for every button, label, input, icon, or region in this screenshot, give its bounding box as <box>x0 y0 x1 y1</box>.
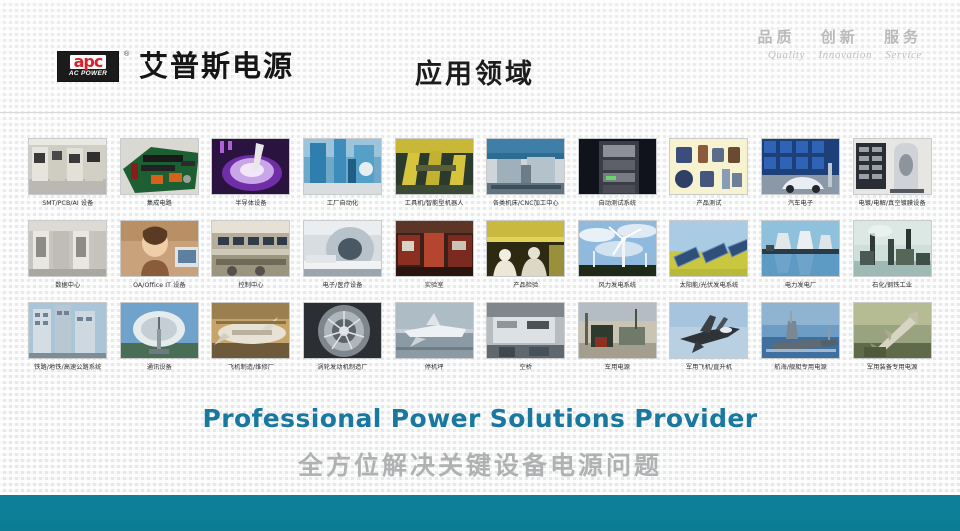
grid-cell[interactable]: 铁路/地铁/高速公路系统 <box>22 302 114 384</box>
grid-cell[interactable]: 汽车电子 <box>755 138 847 220</box>
wind-turbine-thumb[interactable] <box>578 220 657 277</box>
grid-cell-label: 实验室 <box>425 282 444 290</box>
grid-cell-label: 车用电源 <box>605 364 630 372</box>
grid-cell-label: 电子/医疗设备 <box>323 282 363 290</box>
control-room-thumb[interactable] <box>211 220 290 277</box>
slogan-english: Quality Innovation Service <box>757 48 922 63</box>
grid-cell-label: 汽车电子 <box>788 200 813 208</box>
grid-cell-label: 电力发电厂 <box>785 282 816 290</box>
grid-cell-label: 半导体设备 <box>235 200 266 208</box>
grid-cell-label: 集成电路 <box>147 200 172 208</box>
footer-bar <box>0 495 960 531</box>
grid-cell-label: 飞机制造/维修厂 <box>228 364 274 372</box>
grid-cell[interactable]: 军用飞机/直升机 <box>663 302 755 384</box>
logo-tagline: AC POWER <box>69 70 107 78</box>
grid-cell-label: 铁路/地铁/高速公路系统 <box>34 364 101 372</box>
grid-cell[interactable]: 实验室 <box>388 220 480 302</box>
grid-cell[interactable]: 停机坪 <box>388 302 480 384</box>
slogan-cn-innovation: 创新 <box>821 28 859 46</box>
grid-cell-label: 军用飞机/直升机 <box>686 364 732 372</box>
grid-cell-label: 各类机床/CNC加工中心 <box>493 200 559 208</box>
page-title: 应用领域 <box>415 52 535 91</box>
automotive-thumb[interactable] <box>761 138 840 195</box>
industrial-robot-thumb[interactable] <box>395 138 474 195</box>
grid-cell-label: 数据中心 <box>55 282 80 290</box>
grid-cell[interactable]: 控制中心 <box>205 220 297 302</box>
slogan-cn-service: 服务 <box>884 28 922 46</box>
grid-cell[interactable]: 车用电源 <box>572 302 664 384</box>
logo-wordmark: apc <box>70 55 107 69</box>
slogan-en-innovation: Innovation <box>818 49 872 61</box>
header: apc AC POWER ® 艾普斯电源 应用领域 品质 创新 服务 Quali… <box>0 0 960 112</box>
naval-ship-thumb[interactable] <box>761 302 840 359</box>
slogan-cn-quality: 品质 <box>757 28 795 46</box>
grid-cell[interactable]: 各类机床/CNC加工中心 <box>480 138 572 220</box>
grid-cell[interactable]: 风力发电系统 <box>572 220 664 302</box>
jet-bridge-thumb[interactable] <box>486 302 565 359</box>
application-grid: SMT/PCB/AI 设备 集成电路 <box>22 138 938 384</box>
grid-cell[interactable]: 电镀/电解/真空镀膜设备 <box>846 138 938 220</box>
product-test-thumb[interactable] <box>669 138 748 195</box>
solar-panel-thumb[interactable] <box>669 220 748 277</box>
tagline-chinese: 全方位解决关键设备电源问题 <box>0 446 960 482</box>
grid-cell-label: 产品测试 <box>696 200 721 208</box>
grid-cell[interactable]: 通讯设备 <box>114 302 206 384</box>
grid-cell[interactable]: 涡轮发动机制造厂 <box>297 302 389 384</box>
grid-cell[interactable]: 产品测试 <box>663 138 755 220</box>
grid-cell[interactable]: SMT/PCB/AI 设备 <box>22 138 114 220</box>
brand-logo: apc AC POWER ® 艾普斯电源 <box>57 51 294 82</box>
grid-cell-label: 电镀/电解/真空镀膜设备 <box>859 200 926 208</box>
grid-cell-label: 产品检验 <box>513 282 538 290</box>
apc-logo-mark: apc AC POWER ® <box>57 51 119 82</box>
petrochemical-thumb[interactable] <box>853 220 932 277</box>
grid-cell-label: 涡轮发动机制造厂 <box>317 364 367 372</box>
grid-cell-label: 风力发电系统 <box>598 282 636 290</box>
office-it-thumb[interactable] <box>120 220 199 277</box>
brand-name-chinese: 艾普斯电源 <box>139 51 294 82</box>
circuit-board-thumb[interactable] <box>120 138 199 195</box>
grid-cell[interactable]: 石化/钢铁工业 <box>846 220 938 302</box>
grid-cell[interactable]: 电子/医疗设备 <box>297 220 389 302</box>
grid-cell[interactable]: 电力发电厂 <box>755 220 847 302</box>
product-inspection-thumb[interactable] <box>486 220 565 277</box>
apron-thumb[interactable] <box>395 302 474 359</box>
grid-cell[interactable]: 数据中心 <box>22 220 114 302</box>
grid-cell-label: 空桥 <box>519 364 532 372</box>
smt-machines-thumb[interactable] <box>28 138 107 195</box>
grid-cell[interactable]: 自动测试系统 <box>572 138 664 220</box>
cnc-machine-thumb[interactable] <box>486 138 565 195</box>
slogan-en-service: Service <box>885 49 922 61</box>
grid-cell[interactable]: 产品检验 <box>480 220 572 302</box>
grid-cell-label: 停机坪 <box>425 364 444 372</box>
grid-cell[interactable]: 集成电路 <box>114 138 206 220</box>
application-poster: apc AC POWER ® 艾普斯电源 应用领域 品质 创新 服务 Quali… <box>0 0 960 531</box>
turbine-engine-thumb[interactable] <box>303 302 382 359</box>
medical-equipment-thumb[interactable] <box>303 220 382 277</box>
data-center-thumb[interactable] <box>28 220 107 277</box>
rail-highway-thumb[interactable] <box>28 302 107 359</box>
grid-cell[interactable]: 工厂自动化 <box>297 138 389 220</box>
grid-cell-label: 军用装备专用电源 <box>867 364 917 372</box>
factory-automation-thumb[interactable] <box>303 138 382 195</box>
missile-launcher-thumb[interactable] <box>853 302 932 359</box>
grid-cell-label: 航海/舰艇专用电源 <box>774 364 826 372</box>
aircraft-factory-thumb[interactable] <box>211 302 290 359</box>
grid-cell[interactable]: 空桥 <box>480 302 572 384</box>
test-rack-thumb[interactable] <box>578 138 657 195</box>
grid-cell-label: 石化/钢铁工业 <box>872 282 912 290</box>
laboratory-thumb[interactable] <box>395 220 474 277</box>
grid-cell[interactable]: 半导体设备 <box>205 138 297 220</box>
vehicle-power-thumb[interactable] <box>578 302 657 359</box>
plating-equipment-thumb[interactable] <box>853 138 932 195</box>
grid-cell-label: SMT/PCB/AI 设备 <box>42 200 93 208</box>
slogan-en-quality: Quality <box>768 49 805 61</box>
semiconductor-wafer-thumb[interactable] <box>211 138 290 195</box>
grid-cell-label: 自动测试系统 <box>598 200 636 208</box>
tagline-english: Professional Power Solutions Provider <box>0 404 960 433</box>
grid-cell-label: 控制中心 <box>238 282 263 290</box>
grid-row: SMT/PCB/AI 设备 集成电路 <box>22 138 938 220</box>
grid-cell[interactable]: OA/Office IT 设备 <box>114 220 206 302</box>
grid-cell-label: 太阳能/光伏发电系统 <box>680 282 739 290</box>
grid-row: 数据中心 OA/Office IT 设备 <box>22 220 938 302</box>
grid-cell-label: 工厂自动化 <box>327 200 358 208</box>
corporate-slogan: 品质 创新 服务 Quality Innovation Service <box>757 28 922 63</box>
grid-cell-label: 通讯设备 <box>147 364 172 372</box>
power-plant-thumb[interactable] <box>761 220 840 277</box>
grid-cell[interactable]: 太阳能/光伏发电系统 <box>663 220 755 302</box>
header-divider <box>0 112 960 113</box>
grid-cell[interactable]: 工具机/智能型机器人 <box>388 138 480 220</box>
grid-row: 铁路/地铁/高速公路系统 通讯设备 <box>22 302 938 384</box>
grid-cell[interactable]: 航海/舰艇专用电源 <box>755 302 847 384</box>
registered-trademark-icon: ® <box>124 51 129 58</box>
grid-cell-label: OA/Office IT 设备 <box>133 282 186 290</box>
satellite-dish-thumb[interactable] <box>120 302 199 359</box>
military-jet-thumb[interactable] <box>669 302 748 359</box>
grid-cell-label: 工具机/智能型机器人 <box>405 200 464 208</box>
grid-cell[interactable]: 军用装备专用电源 <box>846 302 938 384</box>
slogan-chinese: 品质 创新 服务 <box>757 28 922 46</box>
grid-cell[interactable]: 飞机制造/维修厂 <box>205 302 297 384</box>
